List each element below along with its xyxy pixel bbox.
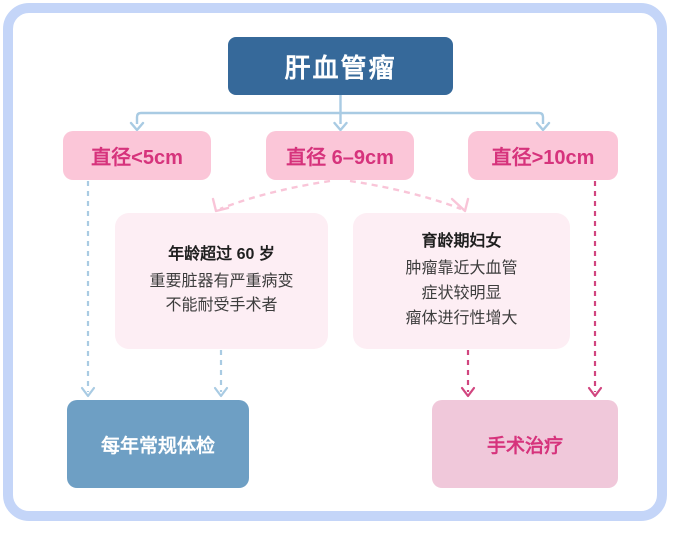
criteria-right-line-1: 肿瘤靠近大血管 [405,257,517,282]
curve-pink-right-arrowhead [452,199,468,211]
node-title[interactable]: 肝血管瘤 [228,37,453,95]
criteria-right-heading: 育龄期妇女 [421,230,501,255]
curve-pink-to-left-panel [220,181,330,209]
criteria-right-line-3: 瘤体进行性增大 [405,307,517,332]
criteria-right-line-2: 症状较明显 [421,282,501,307]
node-condition-large-label: 直径>10cm [492,141,595,170]
node-outcome-surgery[interactable]: 手术治疗 [432,400,618,488]
criteria-left-line-2: 不能耐受手术者 [165,294,277,319]
node-condition-small-label: 直径<5cm [91,141,183,170]
title-branch-connector [137,95,618,124]
dashed-magenta-right-arrowhead [589,388,601,396]
criteria-left-line-1: 重要脏器有严重病变 [149,270,293,295]
curve-pink-left-arrowhead [213,199,228,211]
dashed-blue-left-arrowhead [82,388,94,396]
node-outcome-observation-label: 每年常规体检 [101,431,215,458]
dashed-magenta-panel-arrowhead [462,388,474,396]
node-outcome-surgery-label: 手术治疗 [487,431,563,458]
node-condition-medium[interactable]: 直径 6–9cm [266,131,414,180]
dashed-blue-panel-arrowhead [215,388,227,396]
node-criteria-right[interactable]: 育龄期妇女 肿瘤靠近大血管 症状较明显 瘤体进行性增大 [353,213,570,349]
title-branch-arrowheads [131,123,549,130]
node-criteria-left[interactable]: 年龄超过 60 岁 重要脏器有严重病变 不能耐受手术者 [115,213,328,349]
flowchart-page: 肝血管瘤 直径<5cm 直径 6–9cm 直径>10cm 年龄超过 60 岁 重… [0,0,680,534]
node-condition-medium-label: 直径 6–9cm [286,141,394,170]
node-outcome-observation[interactable]: 每年常规体检 [67,400,249,488]
diagram-canvas: 肝血管瘤 直径<5cm 直径 6–9cm 直径>10cm 年龄超过 60 岁 重… [0,0,680,534]
criteria-left-heading: 年龄超过 60 岁 [168,243,275,268]
curve-pink-to-right-panel [350,181,461,209]
node-condition-large[interactable]: 直径>10cm [468,131,618,180]
node-condition-small[interactable]: 直径<5cm [63,131,211,180]
node-title-label: 肝血管瘤 [284,48,396,85]
